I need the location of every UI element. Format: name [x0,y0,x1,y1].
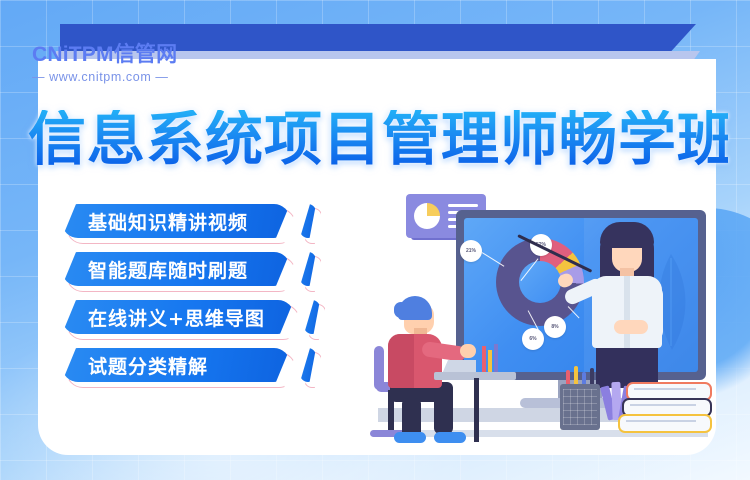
book-yellow [618,414,712,433]
brand-logo: CNiTPM信管网 — www.cnitpm.com — [32,44,177,84]
student-hand [460,344,476,358]
pie-chart-icon [414,203,440,229]
pen-holder-mesh [563,389,597,425]
book-yellow-page [626,420,696,422]
desk-pen-red [482,346,486,374]
brand-logo-text: CNiTPM信管网 [32,44,177,65]
chart-label-bubble: 6% [522,328,544,350]
teacher-shirt-placket [624,276,630,348]
chart-label-text: 8% [551,324,558,330]
student-shin-front [434,382,453,434]
student-hair [398,296,432,320]
feature-label: 智能题库随时刷题 [62,256,268,283]
feature-label: 试题分类精解 [62,352,228,379]
page-title: 信息系统项目管理师畅学班 [28,110,728,168]
chart-label-bubble: 21% [460,240,482,262]
teacher-right-hand [614,320,648,334]
student-shoe-front [434,432,466,443]
student-shoe-back [394,432,426,443]
teacher-right-arm [646,286,663,340]
feature-pill[interactable]: 智能题库随时刷题 [62,252,290,286]
book-navy-page [630,404,696,406]
feature-pill[interactable]: 基础知识精讲视频 [62,204,290,238]
desk-pen-yellow [488,350,492,374]
desk-pen-purple [494,344,498,374]
poster-canvas: CNiTPM信管网 — www.cnitpm.com — 信息系统项目管理师畅学… [0,0,750,480]
feature-label: 在线讲义+思维导图 [62,304,285,331]
small-desk-leg [474,378,479,442]
feature-label: 基础知识精讲视频 [62,208,268,235]
feature-pill[interactable]: 在线讲义+思维导图 [62,300,294,334]
chart-label-text: 21% [466,248,476,254]
online-class-illustration: 21% 52% 8% 6% [378,186,708,448]
brand-website: — www.cnitpm.com — [32,70,177,84]
student-shirt-shade [388,334,414,388]
feature-pill[interactable]: 试题分类精解 [62,348,290,382]
chart-label-text: 6% [529,336,536,342]
chart-label-bubble: 8% [544,316,566,338]
book-red-page [634,388,696,390]
teacher-hair-front [600,222,654,248]
donut-chart-hole [519,261,561,303]
